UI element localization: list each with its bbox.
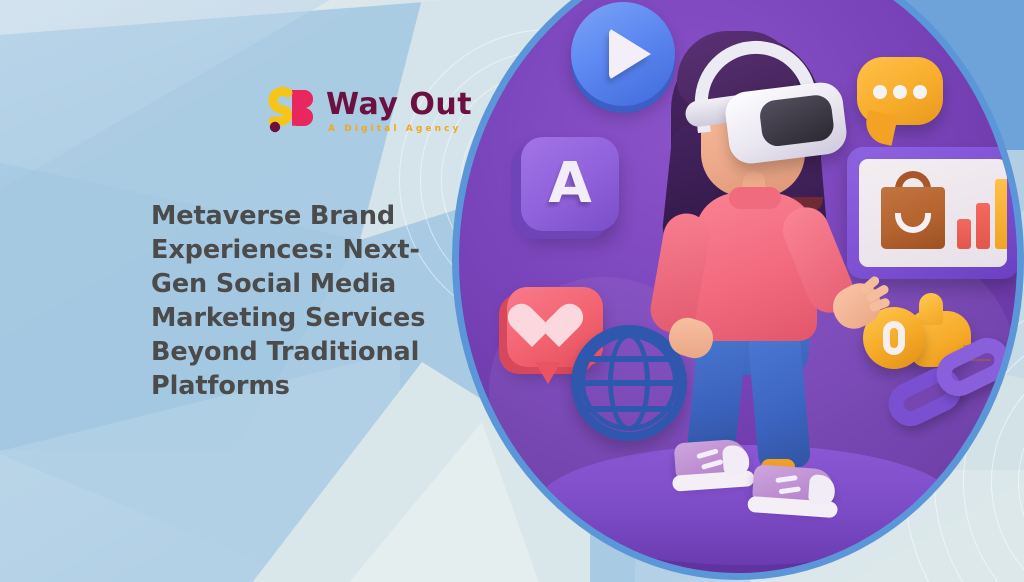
character-shoe-right: [752, 464, 835, 509]
chart-bar-1: [957, 219, 971, 249]
play-triangle-icon: [609, 28, 651, 80]
letter-a-glyph: A: [548, 156, 591, 212]
brand-name: Way Out: [326, 90, 472, 120]
chat-dot-3: [913, 85, 927, 99]
vr-user-character: [649, 27, 909, 497]
vr-headset-lens: [758, 93, 835, 147]
chart-bar-3: [995, 179, 1007, 249]
banner-canvas: Way Out A Digital Agency Metaverse Brand…: [0, 0, 1024, 582]
brand-logo[interactable]: Way Out A Digital Agency: [262, 86, 472, 138]
heart-icon: [532, 305, 578, 347]
chart-bar-2: [976, 203, 990, 249]
character-collar: [729, 187, 781, 209]
hero-illustration-circle: A: [452, 0, 1024, 580]
brand-tagline: A Digital Agency: [328, 124, 472, 134]
page-title: Metaverse Brand Experiences: Next-Gen So…: [151, 200, 461, 403]
sb-monogram-icon: [262, 86, 320, 138]
thumb-extended: [919, 293, 943, 325]
character-shoe-left: [674, 439, 749, 484]
vr-headset: [723, 80, 849, 166]
letter-a-cube-icon: A: [521, 137, 619, 231]
